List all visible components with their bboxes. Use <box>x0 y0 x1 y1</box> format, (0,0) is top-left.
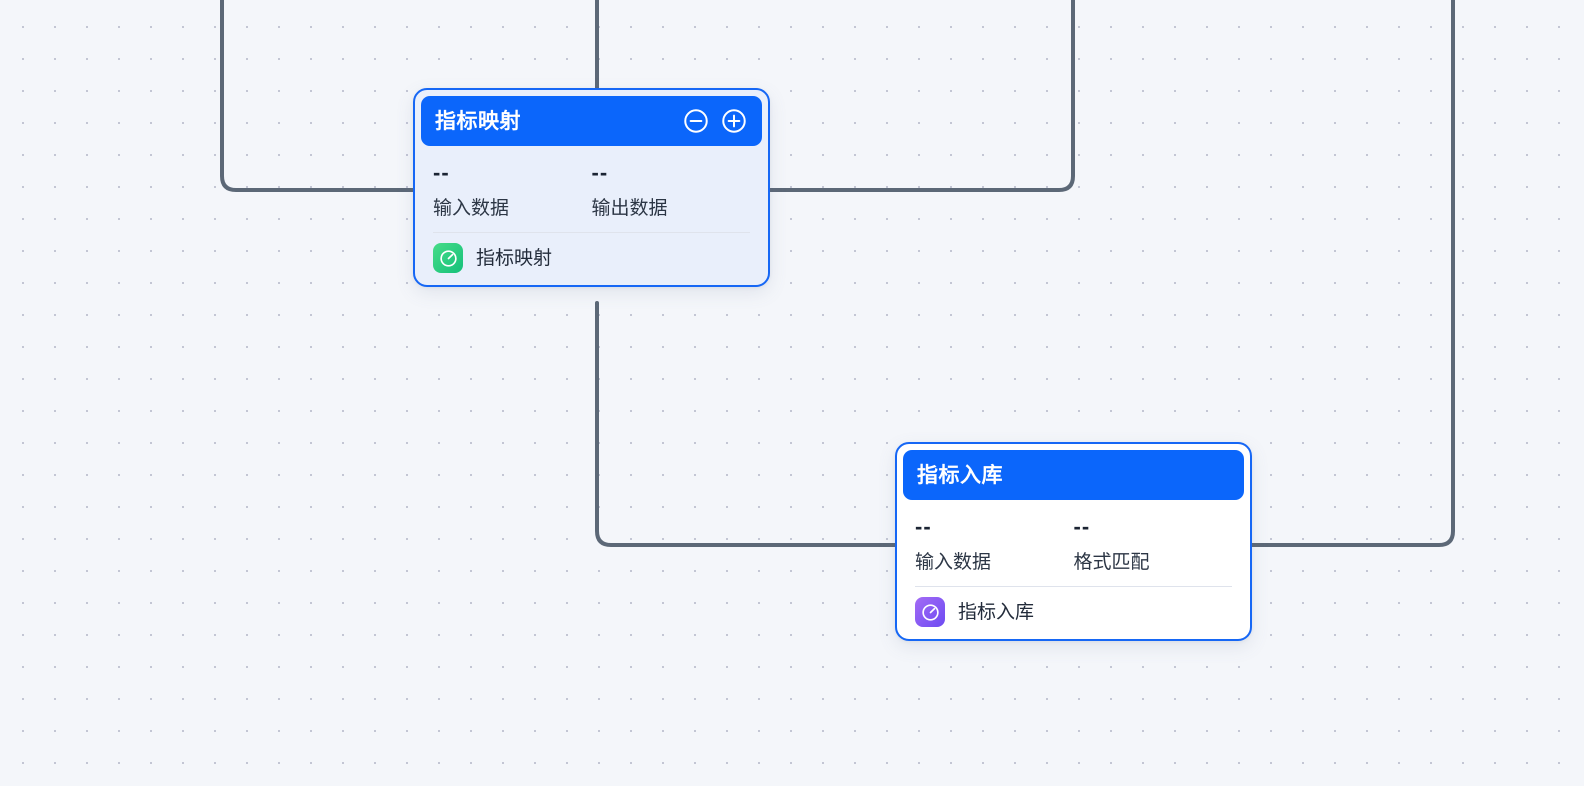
node-header-actions <box>682 107 748 135</box>
node-ports: -- 输入数据 -- 格式匹配 <box>897 500 1250 572</box>
node-header[interactable]: 指标入库 <box>903 450 1244 500</box>
node-metric-mapping[interactable]: 指标映射 -- 输入数据 -- 输出数据 <box>413 88 770 287</box>
edge-left-into-mapping <box>222 0 414 190</box>
port-output[interactable]: -- 输出数据 <box>592 162 751 218</box>
port-value: -- <box>592 162 751 184</box>
gauge-icon <box>915 597 945 627</box>
port-format-match[interactable]: -- 格式匹配 <box>1074 516 1233 572</box>
flow-canvas[interactable]: 指标映射 -- 输入数据 -- 输出数据 <box>0 0 1584 786</box>
circle-plus-icon[interactable] <box>720 107 748 135</box>
node-title: 指标映射 <box>435 111 521 132</box>
node-ports: -- 输入数据 -- 输出数据 <box>415 146 768 218</box>
node-footer-label: 指标映射 <box>476 249 552 268</box>
node-footer-label: 指标入库 <box>958 603 1034 622</box>
node-footer[interactable]: 指标入库 <box>897 587 1250 639</box>
gauge-icon <box>433 243 463 273</box>
node-header[interactable]: 指标映射 <box>421 96 762 146</box>
node-metric-storage[interactable]: 指标入库 -- 输入数据 -- 格式匹配 指标入库 <box>895 442 1252 641</box>
port-value: -- <box>433 162 592 184</box>
port-value: -- <box>1074 516 1233 538</box>
edge-storage-to-right <box>1250 0 1453 545</box>
edge-mapping-to-right <box>770 0 1073 190</box>
node-title: 指标入库 <box>917 465 1003 486</box>
edge-mapping-to-storage <box>597 303 896 545</box>
edge-layer <box>0 0 1584 786</box>
port-label: 格式匹配 <box>1074 553 1233 572</box>
port-label: 输入数据 <box>915 553 1074 572</box>
node-footer[interactable]: 指标映射 <box>415 233 768 285</box>
port-value: -- <box>915 516 1074 538</box>
circle-minus-icon[interactable] <box>682 107 710 135</box>
port-label: 输入数据 <box>433 199 592 218</box>
port-label: 输出数据 <box>592 199 751 218</box>
port-input[interactable]: -- 输入数据 <box>915 516 1074 572</box>
port-input[interactable]: -- 输入数据 <box>433 162 592 218</box>
